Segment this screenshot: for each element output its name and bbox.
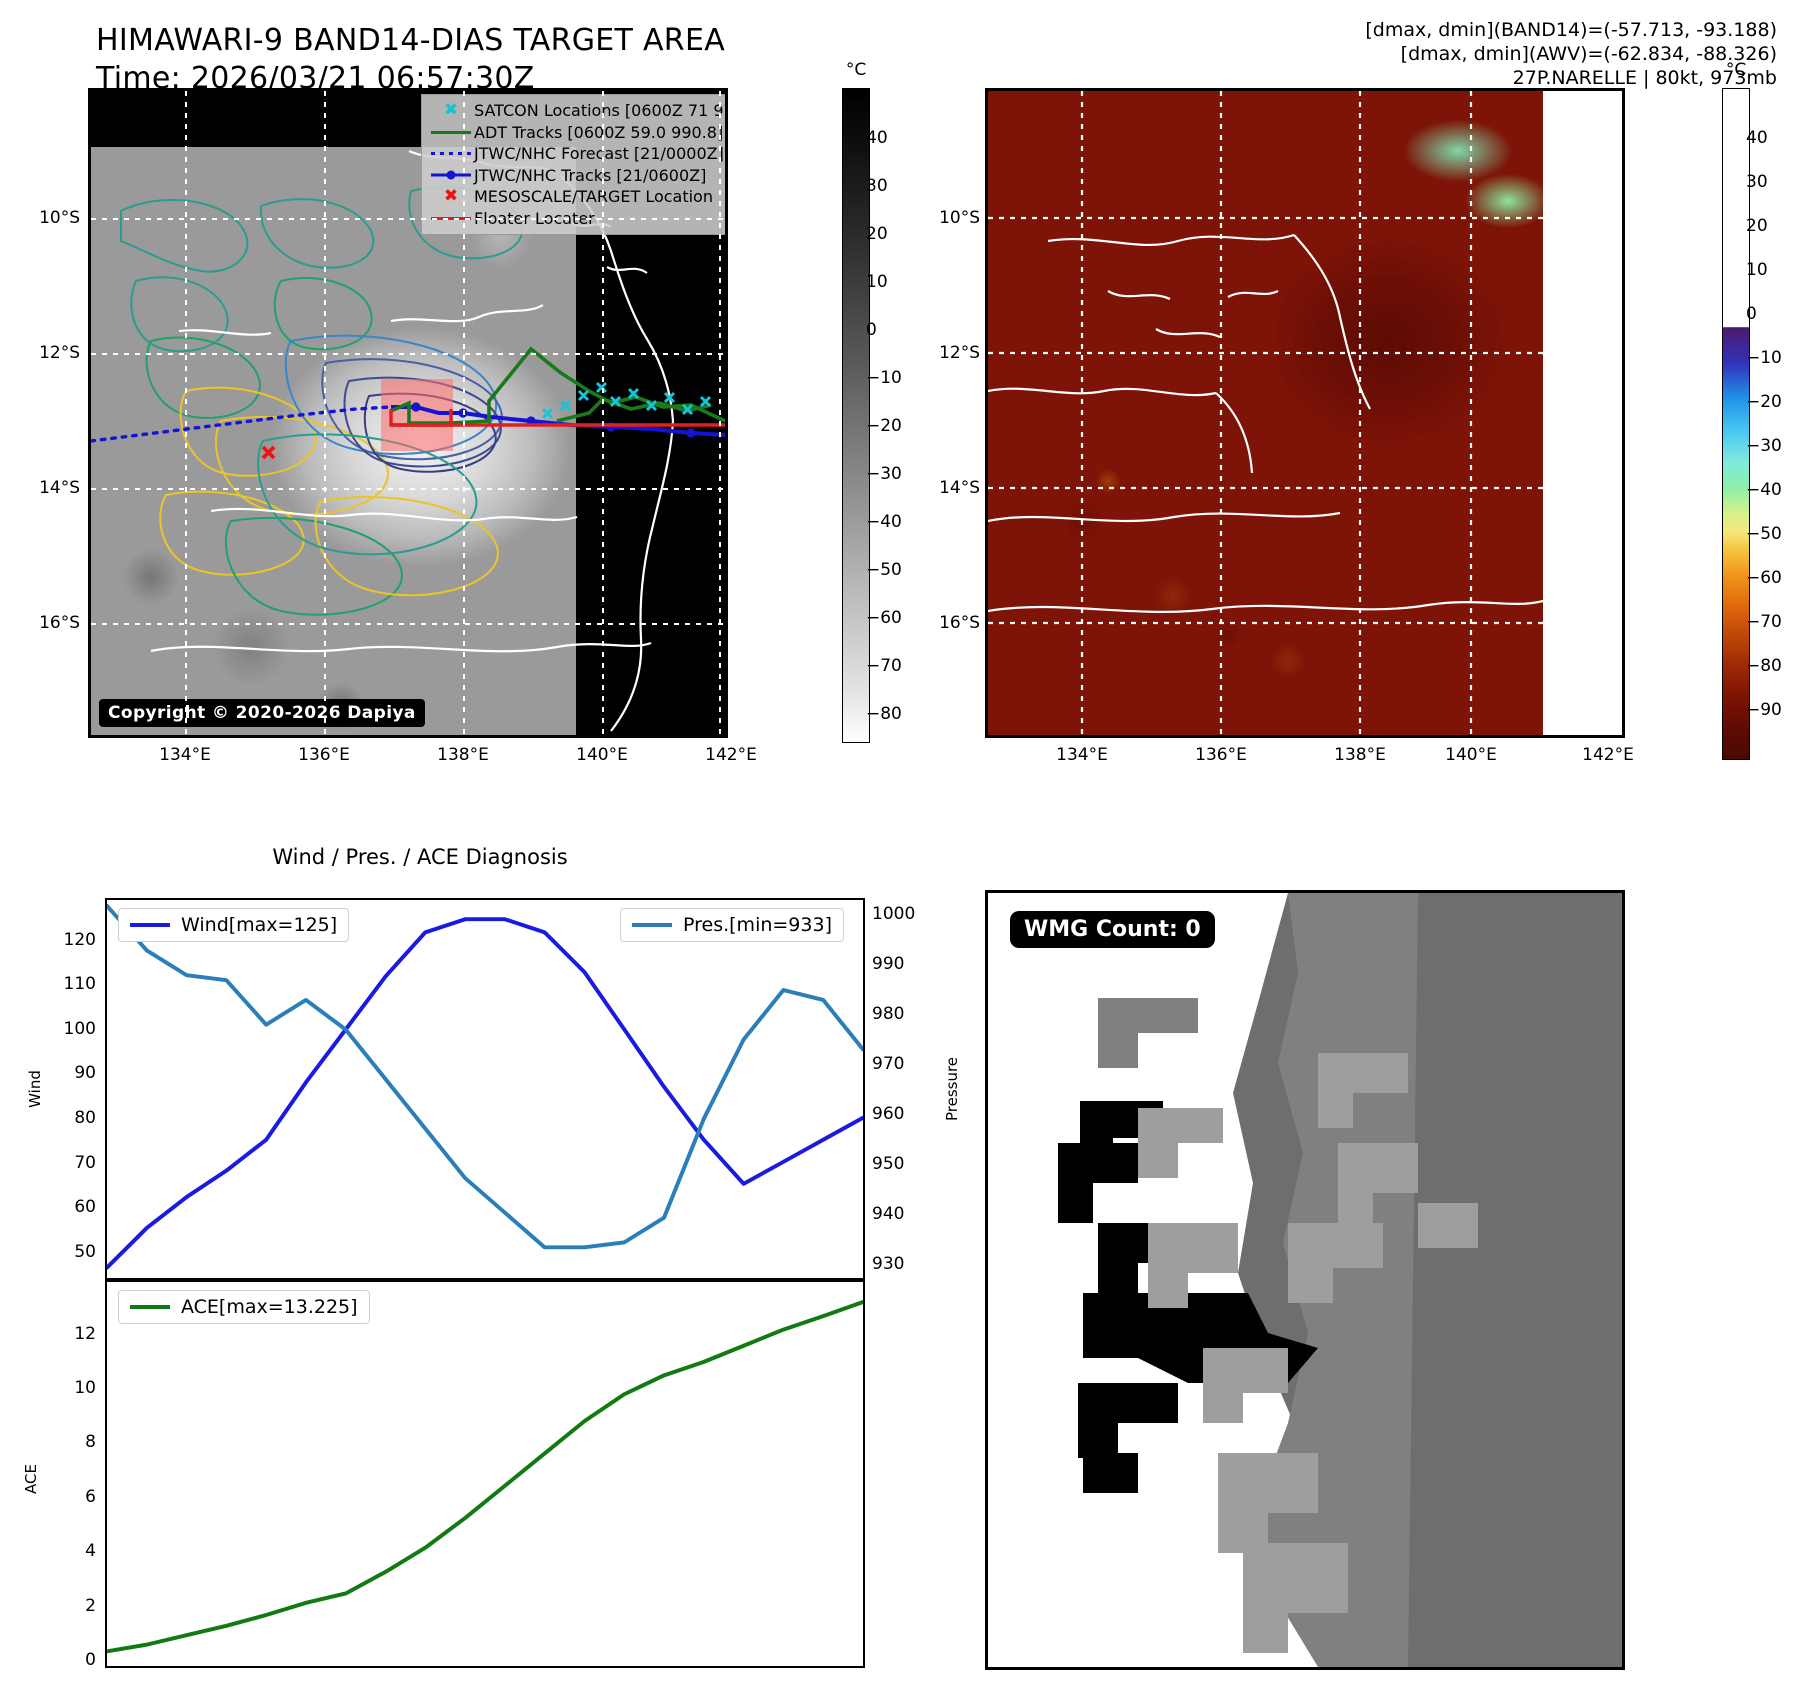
- awv-cb-t12: −80: [1746, 656, 1782, 676]
- meta-awv: [dmax, dmin](AWV)=(-62.834, -88.326): [1365, 42, 1777, 66]
- legend-label-forecast: JTWC/NHC Forecast [21/0000Z]: [474, 143, 724, 165]
- ir-cb-t9: −50: [866, 560, 902, 580]
- awv-cb-t0: 40: [1746, 128, 1768, 148]
- awv-lon-tick-1: 136°E: [1195, 745, 1247, 765]
- pressure-ytick: 930: [872, 1254, 904, 1274]
- legend-label-floater: Floater Locater: [474, 208, 595, 230]
- pressure-ytick: 1000: [872, 904, 915, 924]
- ace-plot: [107, 1282, 863, 1666]
- awv-cb-t1: 30: [1746, 172, 1768, 192]
- wind-pressure-plot: [107, 900, 863, 1278]
- pressure-ytick: 950: [872, 1154, 904, 1174]
- awv-cb-t9: −50: [1746, 524, 1782, 544]
- wmg-panel[interactable]: WMG Count: 0: [985, 890, 1625, 1670]
- ir-lat-tick-3: 16°S: [39, 613, 80, 633]
- legend-item-tracks: JTWC/NHC Tracks [21/0600Z]: [428, 165, 728, 187]
- awv-cb-t8: −40: [1746, 480, 1782, 500]
- wind-ytick: 70: [74, 1153, 96, 1173]
- legend-label-mesoscale: MESOSCALE/TARGET Location: [474, 186, 713, 208]
- ir-lat-ticks: 10°S 12°S 14°S 16°S: [0, 91, 80, 735]
- metadata-block: [dmax, dmin](BAND14)=(-57.713, -93.188) …: [1365, 18, 1777, 90]
- ir-cb-t5: −10: [866, 368, 902, 388]
- mesoscale-x-icon: ✖: [428, 188, 474, 205]
- pressure-ytick: 960: [872, 1104, 904, 1124]
- ir-cb-t3: 10: [866, 272, 888, 292]
- forecast-dotted-icon: [428, 152, 474, 155]
- wind-ytick: 110: [64, 974, 96, 994]
- awv-lon-tick-4: 142°E: [1582, 745, 1634, 765]
- pres-legend-label: Pres.[min=933]: [683, 914, 832, 936]
- mesoscale-target-marker: [263, 447, 274, 458]
- ace-ytick: 0: [85, 1650, 96, 1670]
- jtwc-forecast-track: [91, 407, 391, 441]
- floater-line-icon: [428, 217, 474, 220]
- wmg-mask-image: [988, 893, 1622, 1667]
- pressure-y-ticks: 9309409509609709809901000: [872, 898, 952, 1280]
- pressure-ytick: 990: [872, 954, 904, 974]
- ir-legend: ✖ SATCON Locations [0600Z 71 975] ADT Tr…: [421, 94, 728, 235]
- ace-ytick: 12: [74, 1324, 96, 1344]
- tracks-line-dot-icon: [428, 169, 474, 181]
- satcon-x-icon: ✖: [428, 102, 474, 119]
- wind-pressure-chart[interactable]: [105, 898, 865, 1280]
- wind-ytick: 80: [74, 1108, 96, 1128]
- legend-item-forecast: JTWC/NHC Forecast [21/0000Z]: [428, 143, 728, 165]
- awv-imagery: [988, 91, 1543, 735]
- ace-ytick: 6: [85, 1487, 96, 1507]
- ace-ytick: 8: [85, 1432, 96, 1452]
- ace-legend[interactable]: ACE[max=13.225]: [118, 1290, 370, 1324]
- ir-cb-t6: −20: [866, 416, 902, 436]
- awv-enhanced-panel[interactable]: [985, 88, 1625, 738]
- adt-line-icon: [428, 131, 474, 134]
- ace-legend-label: ACE[max=13.225]: [181, 1296, 358, 1318]
- legend-label-tracks: JTWC/NHC Tracks [21/0600Z]: [474, 165, 706, 187]
- wind-ytick: 90: [74, 1063, 96, 1083]
- legend-label-satcon: SATCON Locations [0600Z 71 975]: [474, 100, 728, 122]
- ir-lon-ticks: 134°E 136°E 138°E 140°E 142°E: [91, 745, 725, 771]
- wind-ytick: 50: [74, 1242, 96, 1262]
- awv-lon-tick-3: 140°E: [1445, 745, 1497, 765]
- pres-legend-swatch: [632, 923, 672, 927]
- wind-ytick: 120: [64, 930, 96, 950]
- awv-cb-t5: −10: [1746, 348, 1782, 368]
- ir-colorbar-unit: °C: [846, 60, 866, 80]
- awv-lon-tick-2: 138°E: [1334, 745, 1386, 765]
- ir-lon-tick-0: 134°E: [159, 745, 211, 765]
- wind-ytick: 60: [74, 1197, 96, 1217]
- ir-lat-tick-2: 14°S: [39, 478, 80, 498]
- awv-cb-t7: −30: [1746, 436, 1782, 456]
- wind-legend[interactable]: Wind[max=125]: [118, 908, 349, 942]
- title-text: HIMAWARI-9 BAND14-DIAS TARGET AREA: [96, 22, 725, 60]
- wind-ytick: 100: [64, 1019, 96, 1039]
- ir-lon-tick-2: 138°E: [437, 745, 489, 765]
- awv-lat-ticks: 10°S 12°S 14°S 16°S: [900, 91, 980, 735]
- awv-cb-t3: 10: [1746, 260, 1768, 280]
- ir-lon-tick-3: 140°E: [576, 745, 628, 765]
- awv-lat-tick-2: 14°S: [939, 478, 980, 498]
- ace-ytick: 2: [85, 1596, 96, 1616]
- awv-colorbar-unit: °C: [1726, 60, 1746, 80]
- awv-cb-t6: −20: [1746, 392, 1782, 412]
- awv-cb-t10: −60: [1746, 568, 1782, 588]
- copyright-badge: Copyright © 2020-2026 Dapiya: [99, 699, 425, 727]
- ir-cb-t1: 30: [866, 176, 888, 196]
- awv-cb-t4: 0: [1746, 304, 1757, 324]
- legend-item-mesoscale: ✖ MESOSCALE/TARGET Location: [428, 186, 728, 208]
- awv-colorbar-group: °C 40 30 20 10 0 −10 −20 −30 −40 −50 −60…: [1718, 60, 1797, 760]
- pressure-ytick: 980: [872, 1004, 904, 1024]
- ir-cb-t8: −40: [866, 512, 902, 532]
- awv-lon-ticks: 134°E 136°E 138°E 140°E 142°E: [988, 745, 1622, 771]
- ir-cb-t7: −30: [866, 464, 902, 484]
- legend-item-satcon: ✖ SATCON Locations [0600Z 71 975]: [428, 100, 728, 122]
- ir-satellite-panel[interactable]: ✖ SATCON Locations [0600Z 71 975] ADT Tr…: [88, 88, 728, 738]
- meta-band14: [dmax, dmin](BAND14)=(-57.713, -93.188): [1365, 18, 1777, 42]
- awv-lat-tick-1: 12°S: [939, 343, 980, 363]
- ir-lat-tick-1: 12°S: [39, 343, 80, 363]
- ir-cb-t10: −60: [866, 608, 902, 628]
- awv-lon-tick-0: 134°E: [1056, 745, 1108, 765]
- wind-legend-swatch: [130, 923, 170, 927]
- awv-cb-t13: −90: [1746, 700, 1782, 720]
- ace-chart[interactable]: [105, 1280, 865, 1668]
- ir-lon-tick-4: 142°E: [705, 745, 757, 765]
- pres-legend[interactable]: Pres.[min=933]: [620, 908, 844, 942]
- ir-lon-tick-1: 136°E: [298, 745, 350, 765]
- pressure-ytick: 940: [872, 1204, 904, 1224]
- ace-ytick: 4: [85, 1541, 96, 1561]
- meta-storm: 27P.NARELLE | 80kt, 973mb: [1365, 66, 1777, 90]
- awv-coastline: [988, 91, 1543, 735]
- awv-cb-t2: 20: [1746, 216, 1768, 236]
- legend-item-adt: ADT Tracks [0600Z 59.0 990.8]: [428, 122, 728, 144]
- ace-ytick: 10: [74, 1378, 96, 1398]
- ir-lat-tick-0: 10°S: [39, 208, 80, 228]
- ace-legend-swatch: [130, 1305, 170, 1309]
- legend-label-adt: ADT Tracks [0600Z 59.0 990.8]: [474, 122, 723, 144]
- legend-item-floater: Floater Locater: [428, 208, 728, 230]
- wind-legend-label: Wind[max=125]: [181, 914, 337, 936]
- awv-cb-t11: −70: [1746, 612, 1782, 632]
- ir-cb-t4: 0: [866, 320, 877, 340]
- ir-cb-t0: 40: [866, 128, 888, 148]
- ir-cb-t11: −70: [866, 656, 902, 676]
- diagnosis-title: Wind / Pres. / ACE Diagnosis: [272, 845, 567, 869]
- wmg-count-badge: WMG Count: 0: [1010, 911, 1215, 948]
- wind-y-ticks: 5060708090100110120: [30, 898, 96, 1280]
- ir-cb-t2: 20: [866, 224, 888, 244]
- page-title: HIMAWARI-9 BAND14-DIAS TARGET AREA Time:…: [96, 22, 725, 98]
- awv-lat-tick-0: 10°S: [939, 208, 980, 228]
- awv-lat-tick-3: 16°S: [939, 613, 980, 633]
- ace-y-ticks: 024681012: [30, 1280, 96, 1668]
- ir-cb-t12: −80: [866, 704, 902, 724]
- pressure-ytick: 970: [872, 1054, 904, 1074]
